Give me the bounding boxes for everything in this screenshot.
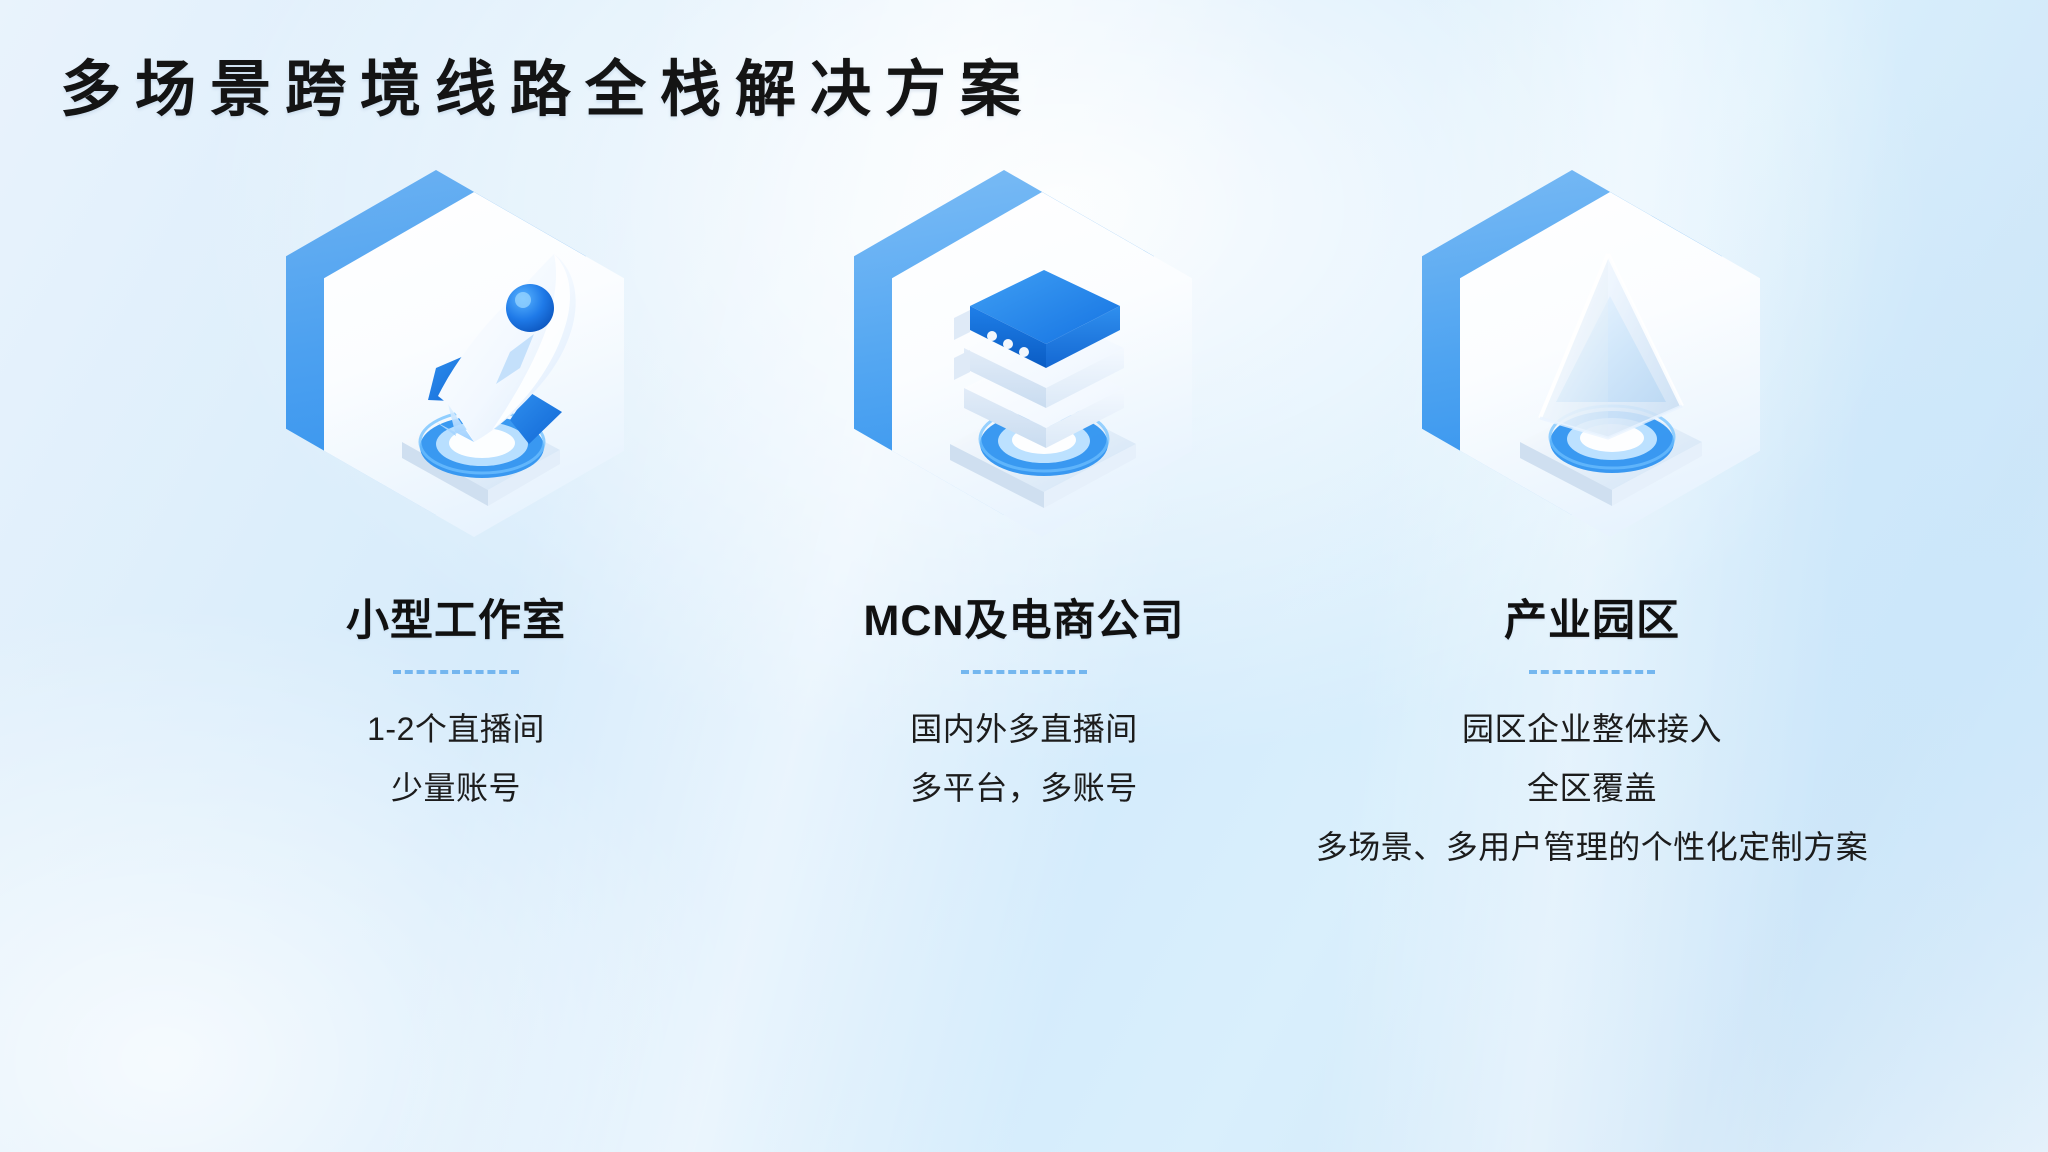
card-line: 多平台，多账号 [910,767,1138,810]
card-title: 产业园区 [1504,586,1680,648]
hexagon-badge [1422,170,1762,560]
card-title: 小型工作室 [346,586,566,648]
card-divider [393,670,519,674]
card-description: 1-2个直播间 少量账号 [367,708,545,810]
card-line: 国内外多直播间 [910,708,1138,751]
hexagon-badge [286,170,626,560]
card-divider [1529,670,1655,674]
card-line: 1-2个直播间 [367,708,545,751]
card-line: 多场景、多用户管理的个性化定制方案 [1316,826,1869,869]
solution-card-industrial-park[interactable]: 产业园区 园区企业整体接入 全区覆盖 多场景、多用户管理的个性化定制方案 [1374,170,1810,870]
card-description: 国内外多直播间 多平台，多账号 [910,708,1138,810]
card-divider [961,670,1087,674]
solution-cards-row: 小型工作室 1-2个直播间 少量账号 [0,170,2048,870]
solution-card-mcn-ecommerce[interactable]: MCN及电商公司 国内外多直播间 多平台，多账号 [806,170,1242,870]
hexagon-badge [854,170,1194,560]
card-line: 少量账号 [391,767,521,810]
page-title: 多场景跨境线路全栈解决方案 [60,56,1035,123]
card-line: 园区企业整体接入 [1462,708,1722,751]
card-line: 全区覆盖 [1527,767,1657,810]
card-title: MCN及电商公司 [864,586,1185,648]
solution-card-small-studio[interactable]: 小型工作室 1-2个直播间 少量账号 [238,170,674,870]
card-description: 园区企业整体接入 全区覆盖 多场景、多用户管理的个性化定制方案 [1316,708,1869,870]
